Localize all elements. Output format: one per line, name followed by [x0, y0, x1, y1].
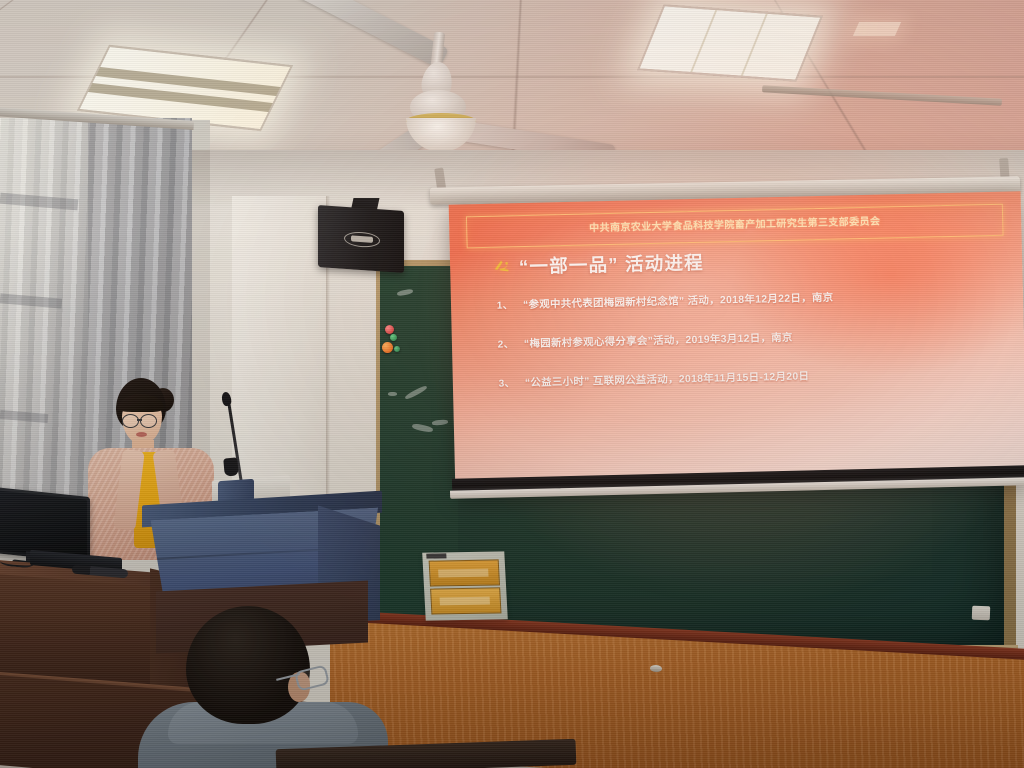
eyeglasses-icon: [122, 414, 139, 428]
projection-screen: 中共南京农业大学食品科技学院畜产加工研究生第三支部委员会 “一部一品” 活动进程…: [449, 191, 1024, 494]
panel-slot: [440, 597, 490, 606]
foreground-student: [150, 606, 370, 768]
classroom-photo: 中共南京农业大学食品科技学院畜产加工研究生第三支部委员会 “一部一品” 活动进程…: [0, 0, 1024, 768]
ceiling-light-right: [637, 4, 823, 81]
head-back: [186, 606, 310, 724]
projected-slide: 中共南京农业大学食品科技学院畜产加工研究生第三支部委员会 “一部一品” 活动进程…: [449, 191, 1024, 494]
wall-speaker: [318, 205, 404, 273]
wall-socket: [972, 606, 990, 621]
board-magnet: [390, 334, 397, 341]
panel-slot: [438, 569, 488, 578]
board-magnet: [385, 325, 394, 334]
screen-vignette: [449, 191, 1024, 494]
board-magnet: [382, 342, 393, 353]
monitor-screen: [0, 490, 87, 559]
mouth: [136, 432, 147, 437]
panel-lid-upper: [429, 559, 500, 586]
curtain-daylight: [0, 118, 88, 518]
eyeglasses-icon: [140, 414, 157, 428]
ceiling-fan: [348, 28, 608, 158]
ceiling-light-far: [853, 22, 901, 36]
electrical-panel: [422, 551, 508, 620]
speaker-logo-icon: [344, 231, 380, 249]
board-magnet: [394, 346, 400, 352]
microphone-base: [223, 457, 239, 476]
panel-lid-lower: [430, 587, 501, 614]
light-divider: [741, 14, 768, 76]
chalk-mark: [388, 392, 397, 396]
eyeglasses-bridge: [137, 419, 142, 421]
panel-label: [426, 553, 446, 558]
light-divider: [690, 10, 717, 72]
